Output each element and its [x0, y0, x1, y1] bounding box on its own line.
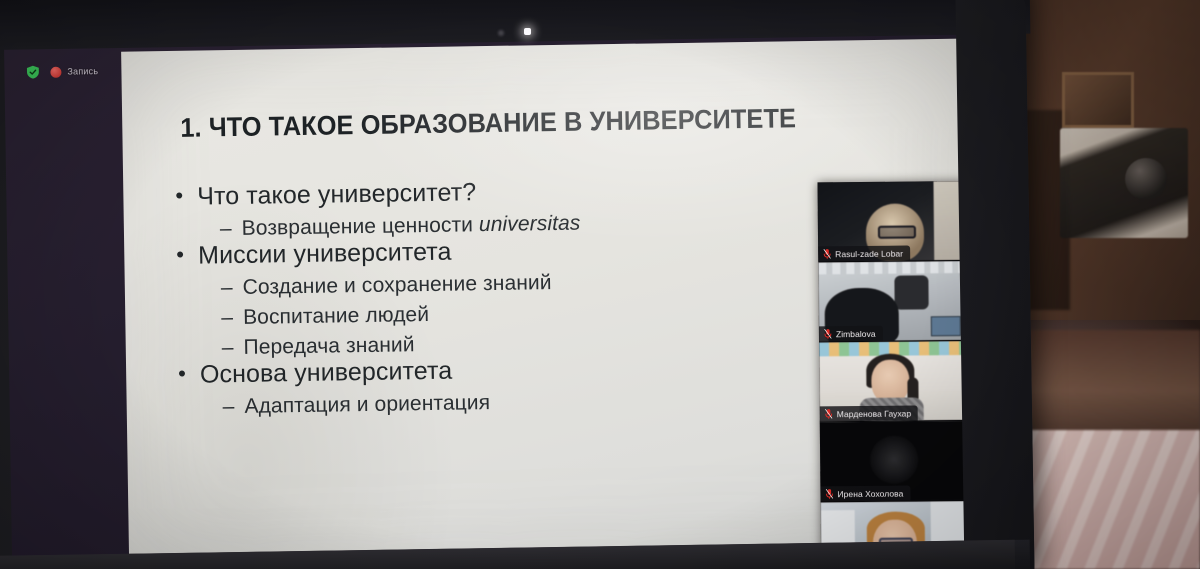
bullet-item: • Что такое университет? [175, 173, 835, 212]
bullet-marker: • [175, 183, 183, 208]
slide-title: 1. ЧТО ТАКОЕ ОБРАЗОВАНИЕ В УНИВЕРСИТЕТЕ [180, 103, 796, 144]
zoom-application-screen: Запись Вы просматриваете экран Анастасия… [4, 32, 977, 559]
recording-label: Запись [67, 66, 98, 76]
sub-bullet-item: – Адаптация и ориентация [223, 386, 839, 420]
participant-tile[interactable]: Марденова Гаухар [819, 341, 968, 422]
webcam-indicator-light [524, 28, 531, 35]
sub-bullet-marker: – [222, 336, 234, 360]
participant-name: Zimbalova [836, 328, 876, 338]
stereo-knob [1125, 158, 1167, 200]
participant-name: Марденова Гаухар [837, 408, 912, 419]
zoom-status-row: Запись [26, 64, 98, 79]
bullet-text: Миссии университета [198, 238, 452, 271]
sub-bullet-item: – Создание и сохранение знаний [221, 267, 837, 301]
photograph-of-laptop-screen: Запись Вы просматриваете экран Анастасия… [0, 0, 1200, 569]
shield-check-icon[interactable] [26, 65, 39, 79]
participant-tile[interactable]: Rasul-zade Lobar [817, 181, 966, 262]
sub-bullet-text: Передача знаний [243, 333, 414, 360]
picture-frame [1062, 72, 1134, 128]
sub-bullet-marker: – [221, 306, 233, 330]
sub-bullet-marker: – [223, 395, 235, 419]
mic-muted-icon [825, 488, 833, 499]
webcam-lens [498, 30, 504, 36]
participant-namebar: Марденова Гаухар [820, 405, 919, 421]
bullet-text: Основа университета [200, 357, 453, 390]
bullet-group: • Миссии университета – Создание и сохра… [176, 232, 838, 361]
sub-bullet-marker: – [221, 276, 233, 300]
sub-bullet-text: Адаптация и ориентация [244, 391, 490, 419]
bullet-marker: • [176, 242, 184, 267]
sub-bullet-item: – Воспитание людей [221, 297, 837, 331]
slide-bullet-list: • Что такое университет? – Возвращение ц… [175, 173, 839, 420]
recording-indicator[interactable]: Запись [50, 66, 98, 78]
participant-namebar: Zimbalova [819, 326, 883, 342]
bullet-group: • Основа университета – Адаптация и орие… [178, 351, 839, 420]
participant-name: Rasul-zade Lobar [835, 248, 903, 259]
participant-tile[interactable]: Ирена Хохолова [820, 421, 969, 502]
bullet-text: Что такое университет? [197, 178, 476, 211]
participant-namebar: Rasul-zade Lobar [818, 246, 910, 262]
laptop-bezel-right [955, 0, 1034, 569]
sub-bullet-text: Воспитание людей [243, 303, 429, 330]
participant-filmstrip: Rasul-zade Lobar Zimbalova [817, 181, 969, 560]
mic-muted-icon [824, 328, 832, 339]
participant-tile[interactable]: Zimbalova [818, 261, 967, 342]
bullet-group: • Что такое университет? – Возвращение ц… [175, 173, 836, 242]
sub-bullet-marker: – [220, 217, 232, 241]
participant-name: Ирена Хохолова [837, 488, 903, 499]
participant-namebar: Ирена Хохолова [820, 486, 910, 502]
stereo-unit [1060, 128, 1188, 238]
sub-bullet-text: Создание и сохранение знаний [242, 271, 551, 300]
bullet-marker: • [178, 361, 186, 386]
record-dot-icon [50, 66, 61, 77]
mic-muted-icon [825, 408, 833, 419]
mic-muted-icon [823, 248, 831, 259]
sub-bullet-italic: universitas [479, 212, 581, 237]
